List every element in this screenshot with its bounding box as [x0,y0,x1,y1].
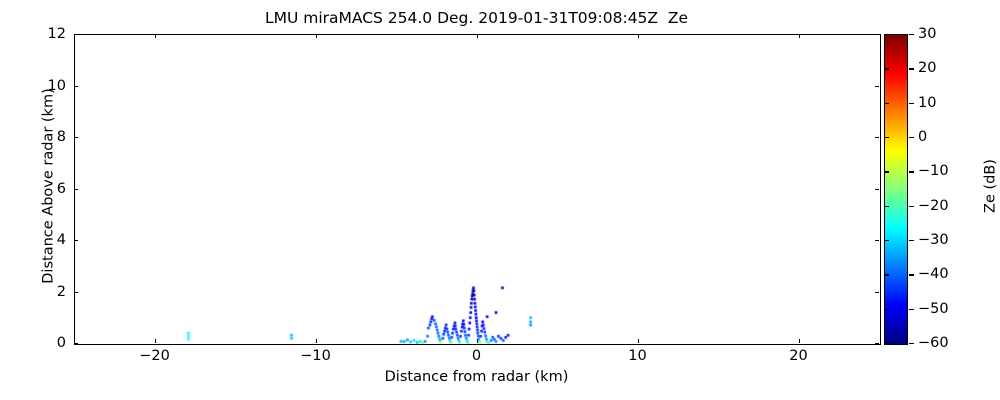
y-tick-label: 12 [6,26,66,42]
colorbar-tick-label: 0 [918,129,927,145]
x-tick-label: 20 [789,348,807,364]
x-tick-mark [316,339,317,343]
y-tick-label: 0 [6,335,66,351]
colorbar-tick-mark-inner [884,34,889,35]
colorbar-tick-mark [909,274,914,275]
plot-area [74,34,881,345]
y-tick-label: 6 [6,181,66,197]
colorbar-tick-label: 20 [918,60,936,76]
y-tick-mark [74,343,78,344]
y-tick-mark-right [875,137,879,138]
x-tick-mark-top [638,34,639,38]
y-tick-mark [74,86,78,87]
colorbar-tick-mark [909,343,914,344]
x-tick-mark-top [799,34,800,38]
colorbar-tick-label: −20 [918,198,949,214]
scatter-data-layer [75,35,880,344]
x-tick-mark-top [155,34,156,38]
colorbar-tick-label: −30 [918,232,949,248]
y-tick-mark-right [875,86,879,87]
x-tick-mark [477,339,478,343]
x-tick-mark [155,339,156,343]
colorbar-tick-label: −50 [918,301,949,317]
y-tick-mark-right [875,240,879,241]
y-tick-label: 2 [6,284,66,300]
y-tick-mark-right [875,34,879,35]
x-tick-label: −20 [139,348,170,364]
colorbar-tick-mark-inner [884,137,889,138]
y-tick-mark-right [875,292,879,293]
colorbar-tick-mark-inner [884,274,889,275]
y-tick-mark-right [875,343,879,344]
x-tick-mark-top [316,34,317,38]
colorbar-tick-mark [909,103,914,104]
x-axis-label: Distance from radar (km) [74,369,879,385]
colorbar-gradient [885,35,907,344]
colorbar-tick-mark-inner [884,103,889,104]
y-tick-mark [74,189,78,190]
y-tick-mark [74,137,78,138]
y-tick-mark-right [875,189,879,190]
colorbar-tick-mark-inner [884,240,889,241]
colorbar-tick-mark [909,34,914,35]
colorbar-tick-mark-inner [884,206,889,207]
x-tick-mark-top [477,34,478,38]
y-tick-label: 10 [6,78,66,94]
colorbar-tick-label: −60 [918,335,949,351]
colorbar-tick-mark [909,137,914,138]
colorbar-tick-label: −10 [918,163,949,179]
colorbar-tick-mark [909,309,914,310]
x-tick-mark [638,339,639,343]
colorbar-tick-mark [909,240,914,241]
colorbar-tick-mark-inner [884,343,889,344]
x-tick-label: 10 [628,348,646,364]
colorbar-tick-mark [909,68,914,69]
colorbar-label: Ze (dB) [983,32,999,341]
colorbar [884,34,908,345]
y-tick-mark [74,292,78,293]
colorbar-tick-mark-inner [884,68,889,69]
x-tick-label: −10 [300,348,331,364]
y-axis-label: Distance Above radar (km) [41,32,57,341]
y-tick-label: 4 [6,232,66,248]
y-tick-mark [74,240,78,241]
colorbar-tick-mark [909,206,914,207]
colorbar-tick-mark [909,171,914,172]
x-tick-mark [799,339,800,343]
chart-title: LMU miraMACS 254.0 Deg. 2019-01-31T09:08… [74,8,879,28]
y-tick-label: 8 [6,129,66,145]
y-tick-mark [74,34,78,35]
colorbar-tick-label: −40 [918,266,949,282]
colorbar-tick-mark-inner [884,309,889,310]
chart-figure: LMU miraMACS 254.0 Deg. 2019-01-31T09:08… [0,0,1000,400]
colorbar-tick-label: 10 [918,95,936,111]
colorbar-tick-label: 30 [918,26,936,42]
colorbar-tick-mark-inner [884,171,889,172]
x-tick-label: 0 [472,348,481,364]
